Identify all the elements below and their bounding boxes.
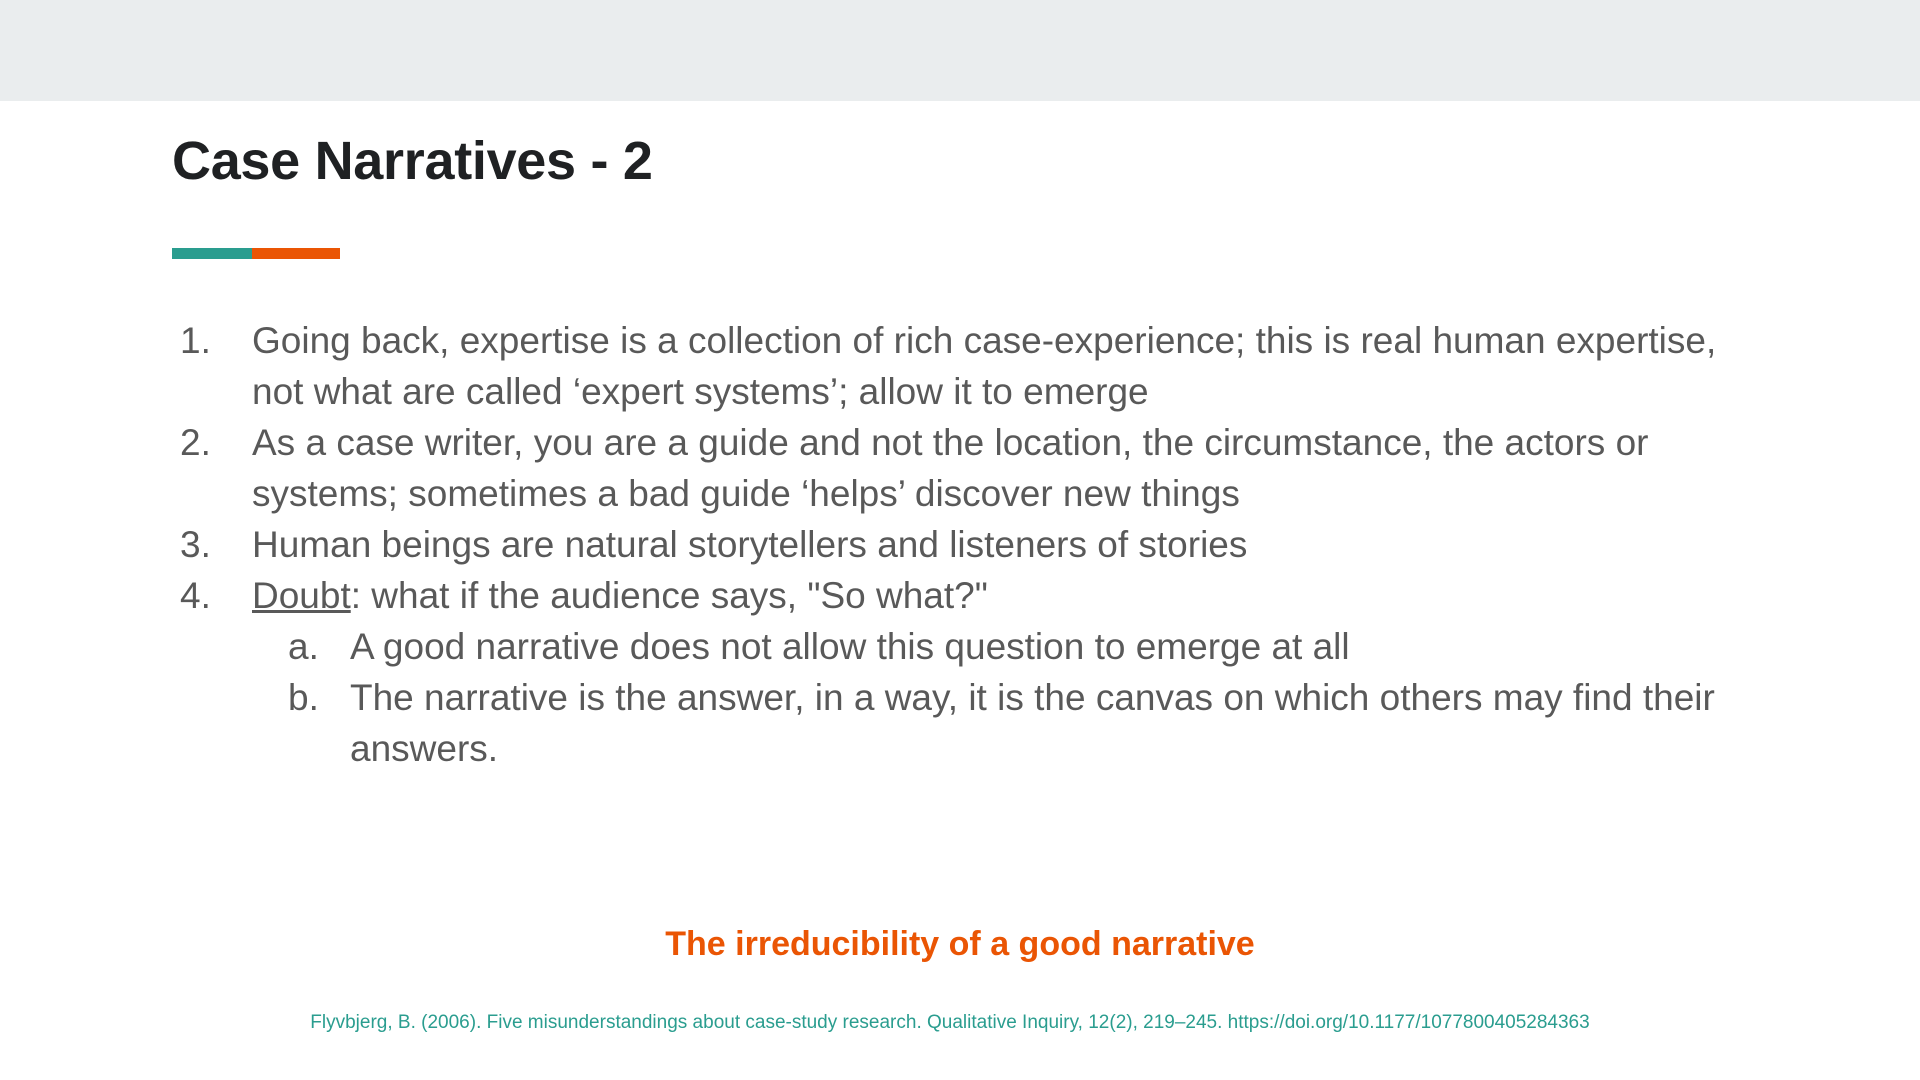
list-item-text: A good narrative does not allow this que…	[350, 621, 1750, 672]
list-item: 1. Going back, expertise is a collection…	[180, 315, 1880, 417]
list-item-marker: 1.	[180, 315, 252, 366]
accent-bar-orange-segment	[252, 248, 340, 259]
list-item-text: Human beings are natural storytellers an…	[252, 519, 1762, 570]
slide: Case Narratives - 2 1. Going back, exper…	[0, 0, 1920, 1080]
list-item-marker: 2.	[180, 417, 252, 468]
list-item-text: Doubt: what if the audience says, "So wh…	[252, 570, 1762, 621]
list-item-text: As a case writer, you are a guide and no…	[252, 417, 1762, 519]
list-item: a. A good narrative does not allow this …	[180, 621, 1880, 672]
list-item: 4. Doubt: what if the audience says, "So…	[180, 570, 1880, 621]
page-title: Case Narratives - 2	[172, 130, 653, 192]
list-item: 3. Human beings are natural storytellers…	[180, 519, 1880, 570]
list-item-text-rest: : what if the audience says, "So what?"	[351, 575, 988, 616]
list-item-marker: 4.	[180, 570, 252, 621]
list-item-marker: b.	[288, 672, 350, 723]
top-decorative-band	[0, 0, 1920, 101]
list-item: 2. As a case writer, you are a guide and…	[180, 417, 1880, 519]
citation: Flyvbjerg, B. (2006). Five misunderstand…	[0, 1012, 1920, 1034]
list-item-text: The narrative is the answer, in a way, i…	[350, 672, 1750, 774]
numbered-list: 1. Going back, expertise is a collection…	[180, 315, 1880, 774]
list-item-marker: 3.	[180, 519, 252, 570]
list-item-text: Going back, expertise is a collection of…	[252, 315, 1762, 417]
accent-bar	[172, 248, 340, 259]
list-item: b. The narrative is the answer, in a way…	[180, 672, 1880, 774]
accent-bar-teal-segment	[172, 248, 252, 259]
list-item-marker: a.	[288, 621, 350, 672]
list-item-emphasis: Doubt	[252, 575, 351, 616]
tagline: The irreducibility of a good narrative	[0, 925, 1920, 964]
